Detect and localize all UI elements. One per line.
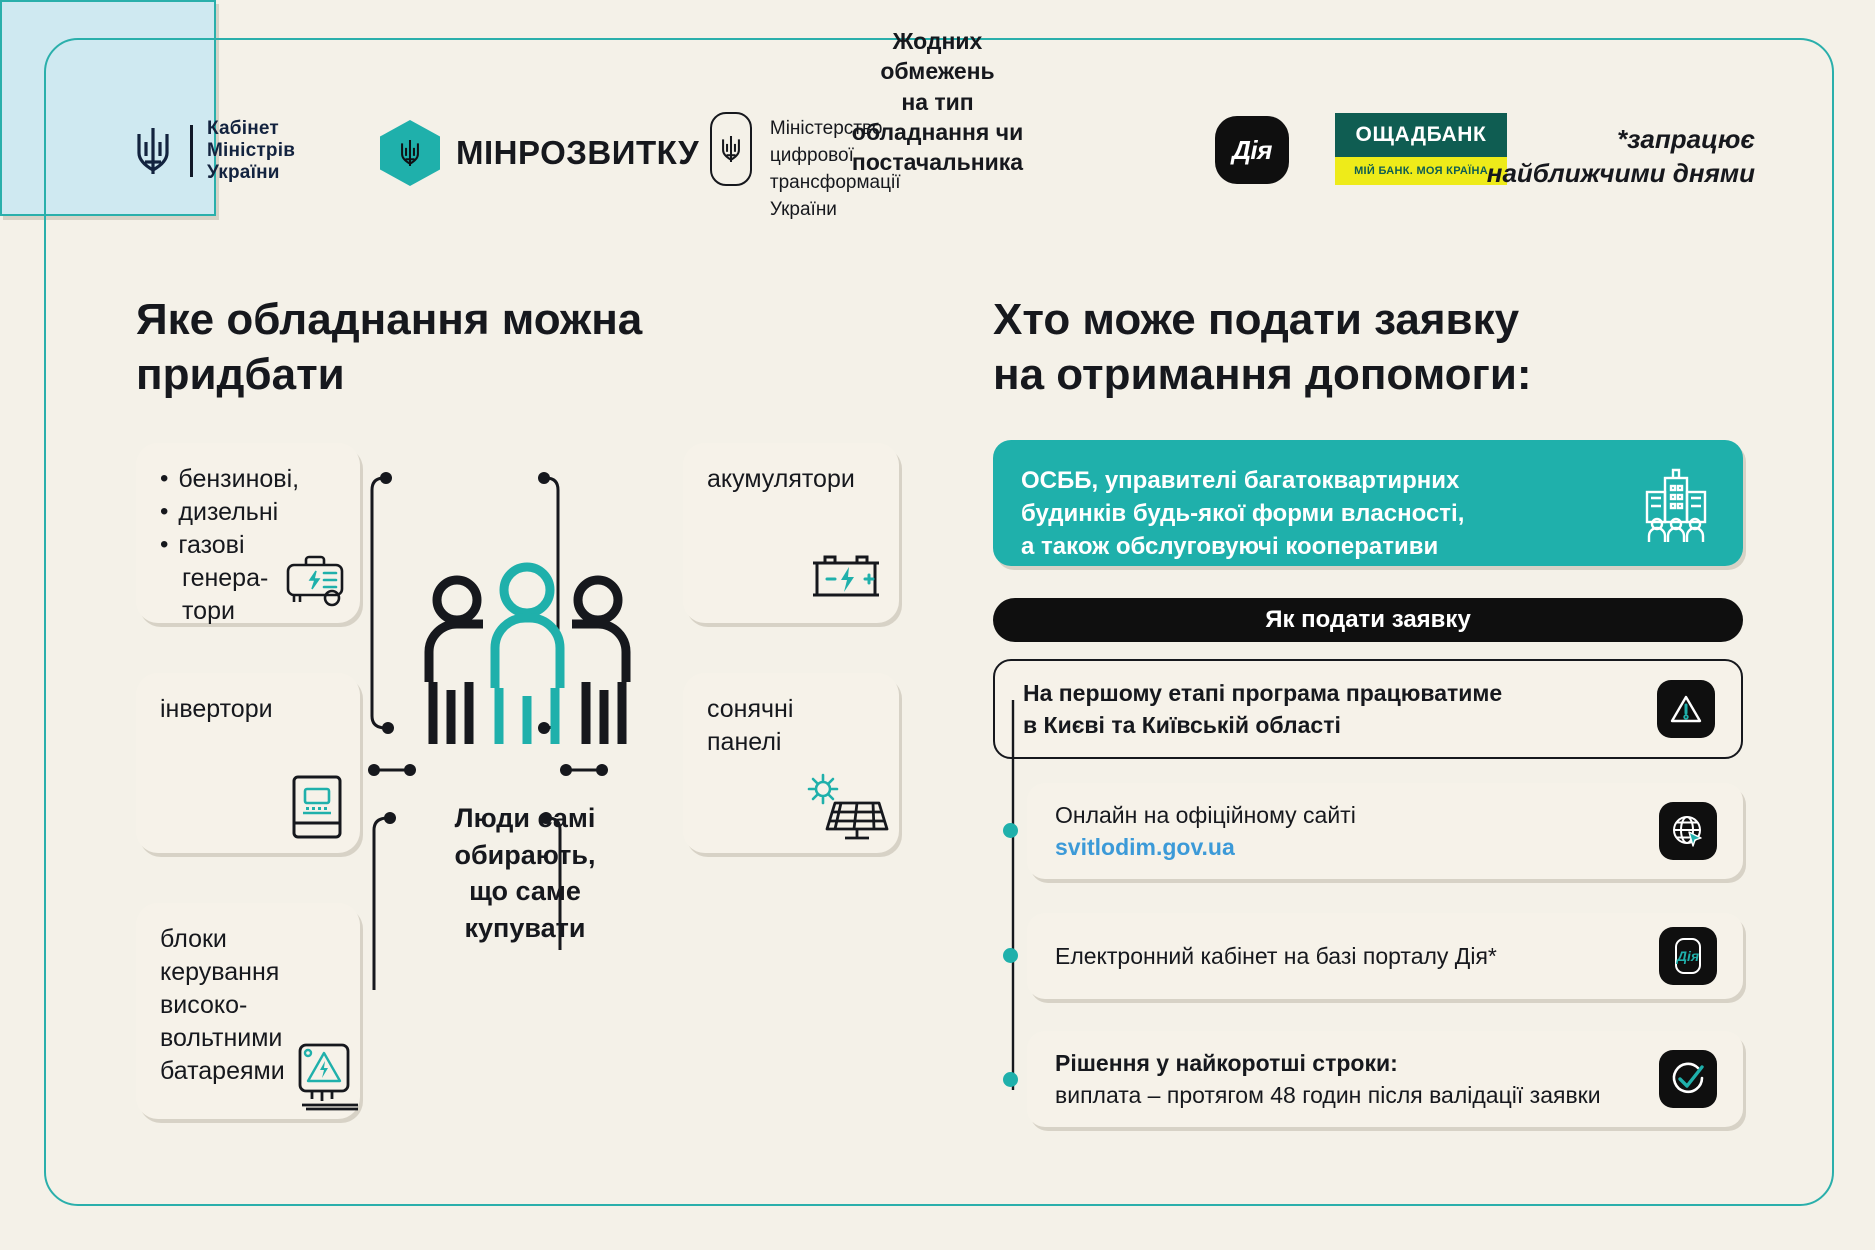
solar-panel-icon	[801, 773, 889, 843]
first-stage-line-2: в Києві та Київській області	[1023, 709, 1502, 741]
inverters-title: інвертори	[160, 693, 344, 726]
card-accumulators: акумулятори	[683, 443, 899, 623]
left-column-heading: Яке обладнання можна придбати	[136, 292, 776, 402]
card-generators: •бензинові, •дизельні •газові генера- то…	[136, 443, 360, 623]
solar-panels-text: сонячні панелі	[707, 693, 883, 759]
eligibility-card: ОСББ, управителі багатоквартирних будинк…	[993, 440, 1743, 566]
step-bullet-diia	[1003, 948, 1018, 963]
step-online-link[interactable]: svitlodim.gov.ua	[1055, 831, 1356, 863]
step-bullet-online	[1003, 823, 1018, 838]
right-heading-line-2: на отримання допомоги:	[993, 347, 1673, 402]
car-battery-icon	[807, 549, 885, 609]
battery-line-1: блоки	[160, 923, 344, 956]
list-item: •бензинові,	[160, 463, 344, 496]
bullet-icon: •	[160, 529, 168, 562]
solar-line-1: сонячні	[707, 693, 883, 726]
right-heading-line-1: Хто може подати заявку	[993, 292, 1673, 347]
mincifra-line-3: України	[770, 197, 919, 224]
three-people-icon	[415, 560, 640, 775]
step-diia-line-1: Електронний кабінет на базі порталу Дія*	[1055, 940, 1497, 972]
center-caption-line-4: купувати	[400, 910, 650, 947]
infographic-page: Кабінет Міністрів України МІНРОЗВИТКУ	[0, 0, 1875, 1250]
apartment-building-people-icon	[1637, 466, 1715, 544]
first-stage-line-1: На першому етапі програма працюватиме	[1023, 677, 1502, 709]
first-stage-text: На першому етапі програма працюватиме в …	[1023, 661, 1502, 757]
battery-line-3: високо-	[160, 989, 344, 1022]
inverter-icon	[286, 771, 348, 843]
no-limits-line-4: обладнання чи	[10, 117, 1865, 147]
no-limits-line-5: постачальника	[10, 147, 1865, 177]
card-solar-panels: сонячні панелі	[683, 673, 899, 853]
first-stage-card: На першому етапі програма працюватиме в …	[993, 659, 1743, 759]
globe-icon-badge	[1659, 802, 1717, 860]
step-diia-cabinet[interactable]: Електронний кабінет на базі порталу Дія*…	[1027, 913, 1743, 999]
card-inverters: інвертори	[136, 673, 360, 853]
step-online-line-1: Онлайн на офіційному сайті	[1055, 799, 1356, 831]
generator-icon	[280, 551, 352, 609]
warning-icon-badge	[1657, 680, 1715, 738]
battery-line-2: керування	[160, 956, 344, 989]
center-caption: Люди самі обирають, що саме купувати	[400, 800, 650, 947]
step-diia-text: Електронний кабінет на базі порталу Дія*	[1055, 913, 1497, 999]
generators-bullet-1: бензинові,	[178, 463, 299, 496]
accumulators-title: акумулятори	[707, 463, 883, 496]
step-online-text: Онлайн на офіційному сайті svitlodim.gov…	[1055, 783, 1356, 879]
list-item: •дизельні	[160, 496, 344, 529]
no-limits-text: Жодних обмежень на тип обладнання чи пос…	[10, 26, 1865, 178]
right-column-heading: Хто може подати заявку на отримання допо…	[993, 292, 1673, 402]
warning-triangle-icon	[1668, 691, 1704, 727]
center-caption-line-1: Люди самі	[400, 800, 650, 837]
no-limits-line-2: обмежень	[10, 56, 1865, 86]
diia-icon-badge: Дія	[1659, 927, 1717, 985]
bullet-icon: •	[160, 463, 168, 496]
step-fast-decision[interactable]: Рішення у найкоротші строки: виплата – п…	[1027, 1031, 1743, 1127]
card-battery-control: блоки керування високо- вольтними батаре…	[136, 903, 360, 1119]
step-fast-text: Рішення у найкоротші строки: виплата – п…	[1055, 1031, 1601, 1127]
how-to-apply-bar: Як подати заявку	[993, 598, 1743, 642]
center-caption-line-2: обирають,	[400, 837, 650, 874]
step-bullet-fast	[1003, 1072, 1018, 1087]
center-caption-line-3: що саме	[400, 873, 650, 910]
step-online[interactable]: Онлайн на офіційному сайті svitlodim.gov…	[1027, 783, 1743, 879]
no-limits-line-3: на тип	[10, 87, 1865, 117]
no-limits-line-1: Жодних	[10, 26, 1865, 56]
diia-app-icon: Дія	[1670, 936, 1706, 976]
high-voltage-battery-icon	[292, 1039, 368, 1115]
step-fast-line-2: виплата – протягом 48 годин після валіда…	[1055, 1079, 1601, 1111]
how-to-apply-label: Як подати заявку	[1265, 606, 1471, 634]
eligibility-line-2: будинків будь-якої форми власності,	[1021, 497, 1561, 530]
eligibility-text: ОСББ, управителі багатоквартирних будинк…	[1021, 464, 1561, 563]
check-circle-icon	[1668, 1059, 1708, 1099]
globe-cursor-icon	[1670, 813, 1706, 849]
left-heading-line-2: придбати	[136, 347, 776, 402]
solar-line-2: панелі	[707, 726, 883, 759]
eligibility-line-1: ОСББ, управителі багатоквартирних	[1021, 464, 1561, 497]
bullet-icon: •	[160, 496, 168, 529]
eligibility-line-3: а також обслуговуючі кооперативи	[1021, 530, 1561, 563]
step-fast-line-1: Рішення у найкоротші строки:	[1055, 1047, 1601, 1079]
left-heading-line-1: Яке обладнання можна	[136, 292, 776, 347]
check-icon-badge	[1659, 1050, 1717, 1108]
svg-text:Дія: Дія	[1676, 948, 1699, 964]
generators-bullet-3: газові	[178, 529, 244, 562]
generators-bullet-2: дизельні	[178, 496, 278, 529]
